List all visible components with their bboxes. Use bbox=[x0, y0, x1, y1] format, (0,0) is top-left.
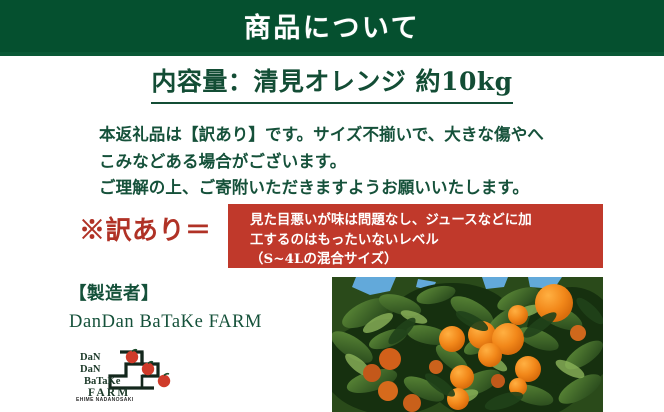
wakeari-definition-line-3: （S~4Lの混合サイズ） bbox=[250, 250, 603, 270]
content-volume-heading: 内容量：清見オレンジ 約10kg bbox=[151, 68, 512, 104]
logo-text-line3: BaTaKe bbox=[84, 376, 121, 387]
product-info-panel: 商品について 内容量：清見オレンジ 約10kg 本返礼品は【訳あり】です。サイズ… bbox=[0, 0, 664, 412]
subtitle-container: 内容量：清見オレンジ 約10kg bbox=[0, 68, 664, 104]
wakeari-definition-line-2: 工するのはもったいないレベル bbox=[250, 231, 603, 251]
wakeari-definition-line-1: 見た目悪いが味は問題なし、ジュースなどに加 bbox=[250, 211, 603, 231]
header-banner-underline bbox=[0, 52, 664, 56]
description-line-1: 本返礼品は【訳あり】です。サイズ不揃いで、大きな傷やへ bbox=[99, 122, 599, 149]
fruit-icon-group bbox=[126, 350, 170, 387]
page-title: 商品について bbox=[244, 15, 420, 42]
logo-tagline: EHIME NADANOSAKI bbox=[76, 397, 134, 403]
manufacturer-name: DanDan BaTaKe FARM bbox=[69, 309, 262, 337]
logo-text-line2: DaN bbox=[80, 364, 101, 375]
wakeari-label: ※訳あり＝ bbox=[79, 218, 212, 244]
wakeari-definition-box: 見た目悪いが味は問題なし、ジュースなどに加 工するのはもったいないレベル （S~… bbox=[228, 204, 603, 268]
farm-logo: DaN DaN BaTaKe FARM EHIME NADANOSAKI bbox=[62, 348, 214, 400]
manufacturer-heading: 【製造者】 bbox=[69, 281, 262, 307]
wakeari-callout: ※訳あり＝ 見た目悪いが味は問題なし、ジュースなどに加 工するのはもったいないレ… bbox=[0, 204, 664, 270]
description-line-2: こみなどある場合がございます。 bbox=[99, 149, 599, 176]
manufacturer-block: 【製造者】 DanDan BaTaKe FARM bbox=[69, 281, 262, 337]
description-line-3: ご理解の上、ご寄附いただきますようお願いいたします。 bbox=[99, 175, 599, 202]
header-banner: 商品について bbox=[0, 0, 664, 56]
description-paragraph: 本返礼品は【訳あり】です。サイズ不揃いで、大きな傷やへ こみなどある場合がござい… bbox=[99, 122, 599, 202]
logo-text-line1: DaN bbox=[80, 352, 101, 363]
orange-orchard-photo bbox=[332, 277, 603, 412]
